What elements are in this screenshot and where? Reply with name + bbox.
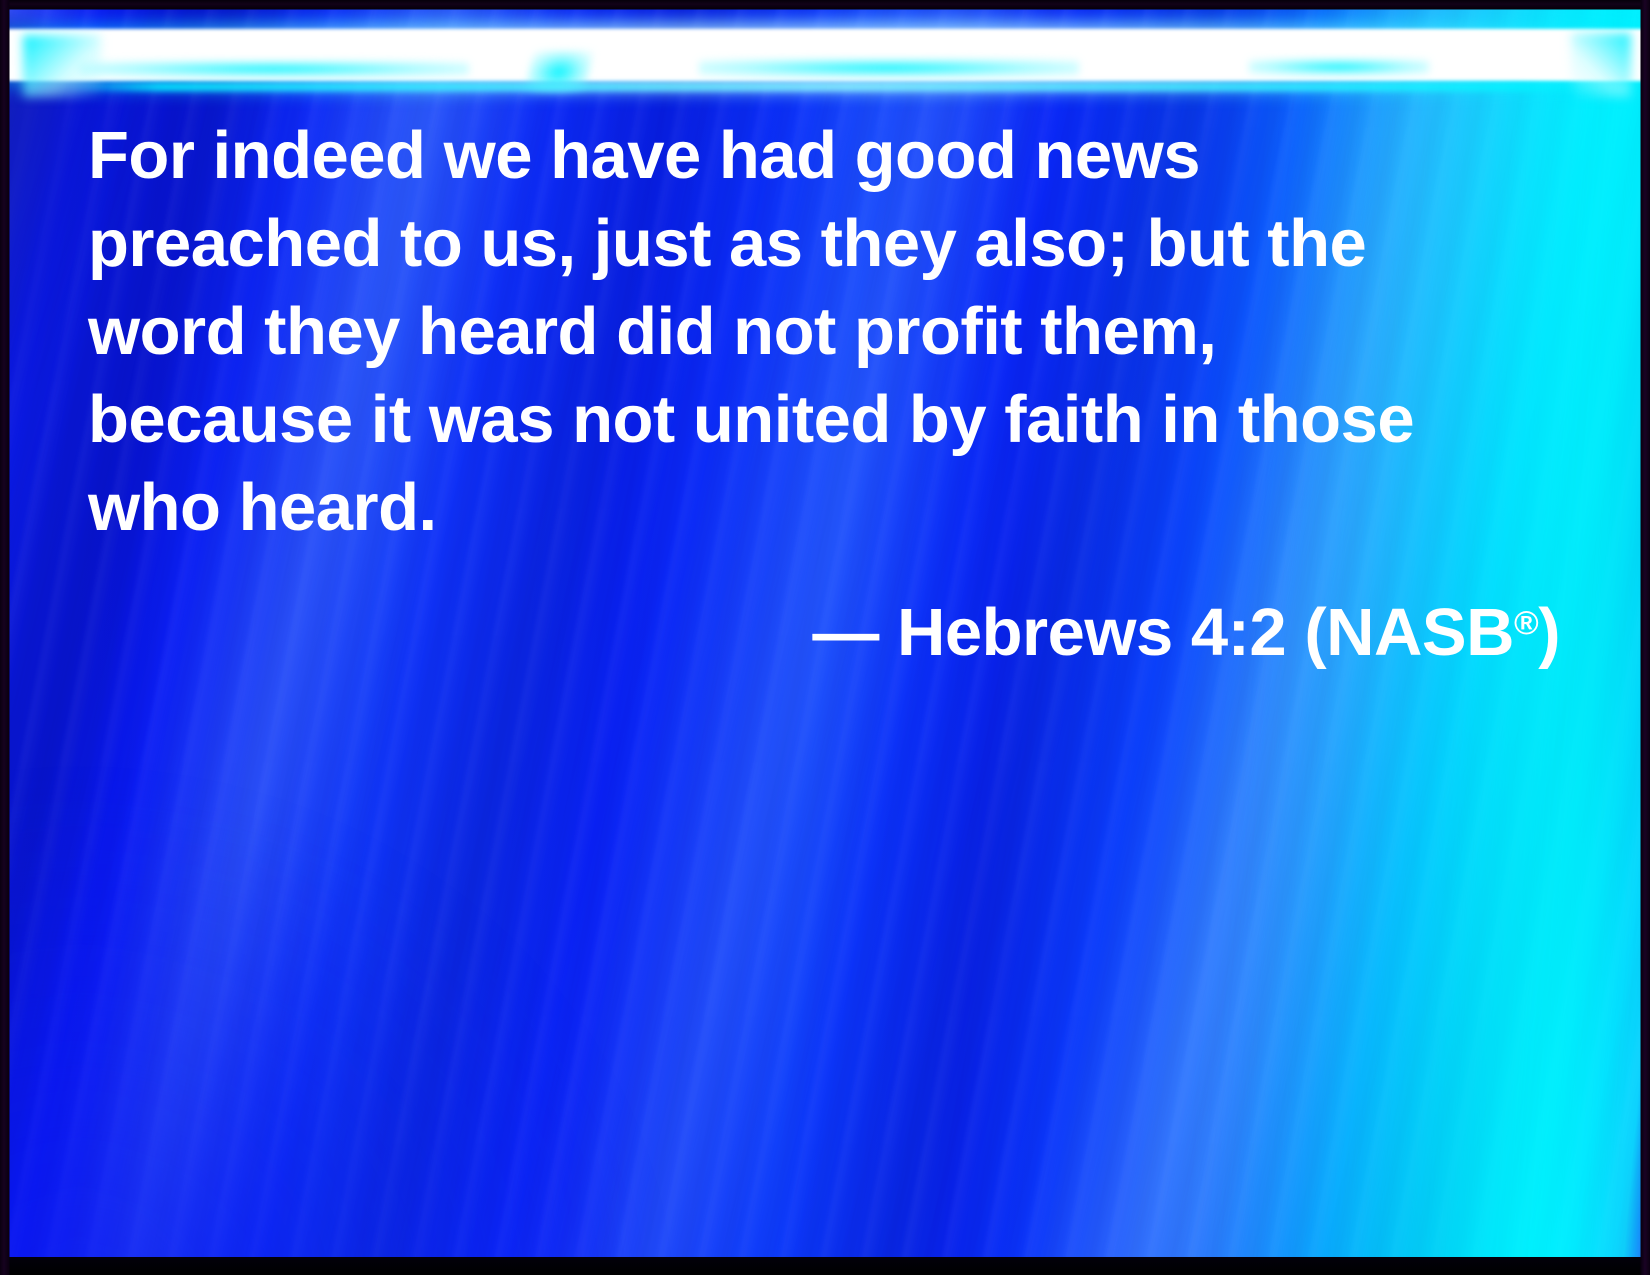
- attribution-reference: 4:2: [1191, 595, 1286, 670]
- bottom-left-blue-glow: [9, 737, 709, 1257]
- top-band-corner-left: [23, 35, 101, 97]
- verse-attribution: — Hebrews 4:2 (NASB®): [88, 584, 1568, 673]
- attribution-translation: NASB: [1326, 595, 1514, 670]
- verse-line-2: preached to us, just as they also; but t…: [88, 200, 1568, 288]
- cyan-wisp-left: [79, 61, 469, 77]
- attribution-em-dash: —: [812, 595, 879, 670]
- attribution-book: Hebrews: [897, 595, 1173, 670]
- verse-slide: For indeed we have had good news preache…: [0, 0, 1650, 1275]
- slide-canvas: For indeed we have had good news preache…: [9, 9, 1641, 1257]
- verse-line-3: word they heard did not profit them,: [88, 288, 1568, 376]
- top-band-underline: [69, 83, 1611, 91]
- verse-text-block: For indeed we have had good news preache…: [88, 112, 1568, 673]
- verse-line-1: For indeed we have had good news: [88, 112, 1568, 200]
- registered-trademark-icon: ®: [1514, 605, 1538, 642]
- attribution-open-paren: (: [1304, 595, 1326, 670]
- verse-line-4: because it was not united by faith in th…: [88, 376, 1568, 464]
- verse-line-5: who heard.: [88, 464, 1568, 552]
- cyan-wisp-right: [1249, 59, 1429, 75]
- top-band-corner-right: [1571, 33, 1631, 97]
- cyan-wisp-center: [699, 59, 1079, 77]
- attribution-close-paren: ): [1538, 595, 1560, 670]
